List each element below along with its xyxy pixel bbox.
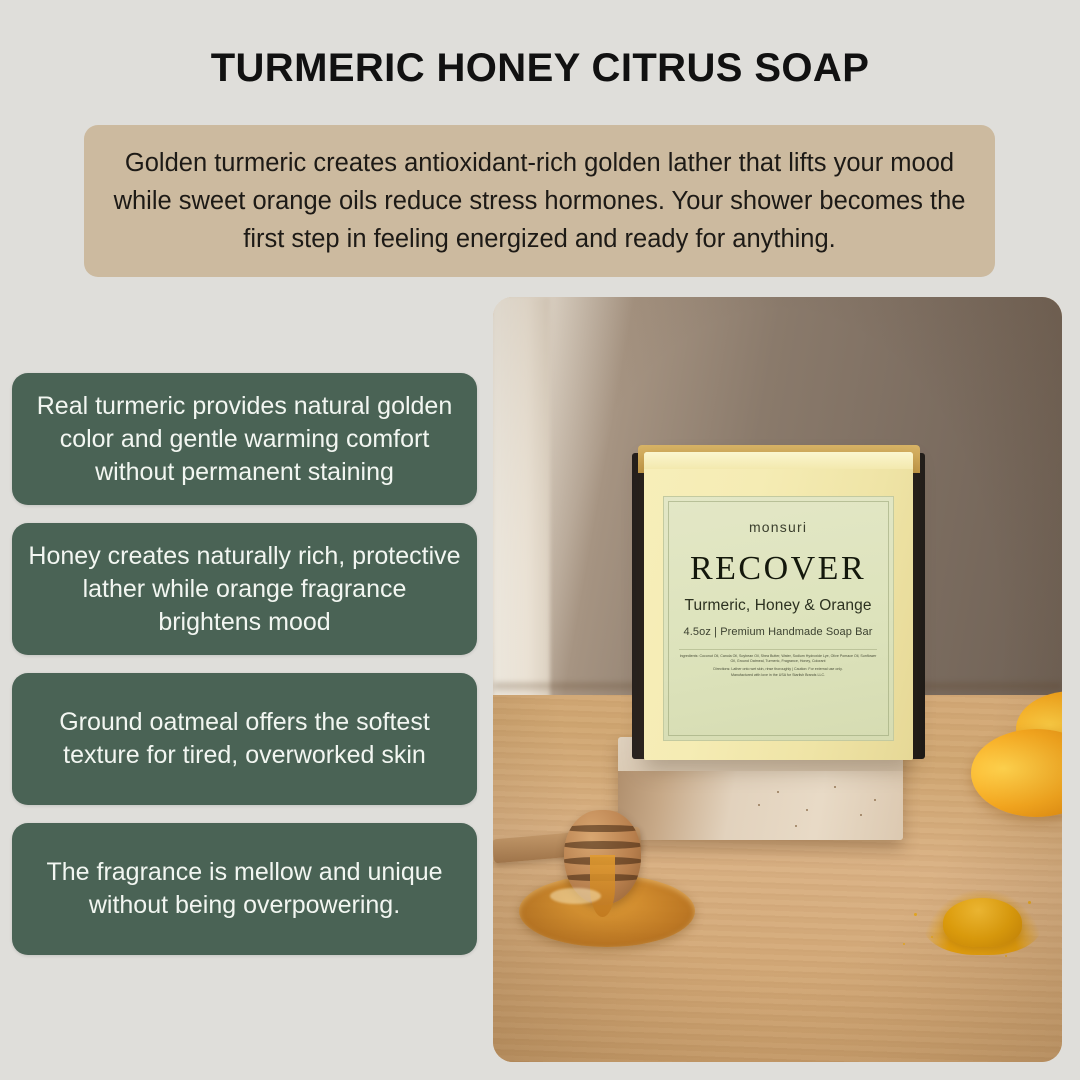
product-variant: Turmeric, Honey & Orange — [685, 597, 872, 615]
feature-card-3-text: Ground oatmeal offers the softest textur… — [28, 706, 461, 772]
feature-card-4-text: The fragrance is mellow and unique witho… — [28, 856, 461, 922]
description-panel: Golden turmeric creates antioxidant-rich… — [84, 125, 995, 277]
honey-drip — [590, 855, 616, 916]
description-text: Golden turmeric creates antioxidant-rich… — [110, 144, 969, 258]
turmeric-dust-5 — [1005, 955, 1007, 957]
feature-card-1-text: Real turmeric provides natural golden co… — [28, 390, 461, 489]
label-border — [668, 501, 889, 736]
label-fineprint-block: Ingredients: Coconut Oil, Canola Oil, So… — [679, 649, 877, 678]
feature-card-list: Real turmeric provides natural golden co… — [12, 373, 477, 955]
ingredients-text: Ingredients: Coconut Oil, Canola Oil, So… — [679, 654, 877, 664]
soap-bar-front — [618, 771, 903, 840]
feature-card-3: Ground oatmeal offers the softest textur… — [12, 673, 477, 805]
soap-box-top-face — [644, 452, 913, 469]
feature-card-1: Real turmeric provides natural golden co… — [12, 373, 477, 505]
infographic-page: TURMERIC HONEY CITRUS SOAP Golden turmer… — [0, 0, 1080, 1080]
product-photo: monsuri RECOVER Turmeric, Honey & Orange… — [493, 297, 1062, 1062]
page-title: TURMERIC HONEY CITRUS SOAP — [0, 46, 1080, 91]
product-name: RECOVER — [690, 552, 866, 586]
turmeric-powder-mound — [943, 898, 1023, 948]
feature-card-4: The fragrance is mellow and unique witho… — [12, 823, 477, 955]
feature-card-2-text: Honey creates naturally rich, protective… — [28, 540, 461, 639]
manufacturer-text: Manufactured with love in the USA for St… — [679, 673, 877, 678]
product-size-line: 4.5oz | Premium Handmade Soap Bar — [684, 626, 873, 638]
turmeric-dust-1 — [914, 913, 917, 916]
photo-backdrop-pillar — [493, 297, 550, 725]
feature-card-2: Honey creates naturally rich, protective… — [12, 523, 477, 655]
brand-name: monsuri — [749, 519, 807, 535]
product-label: monsuri RECOVER Turmeric, Honey & Orange… — [663, 496, 894, 741]
turmeric-dust-2 — [931, 936, 933, 938]
